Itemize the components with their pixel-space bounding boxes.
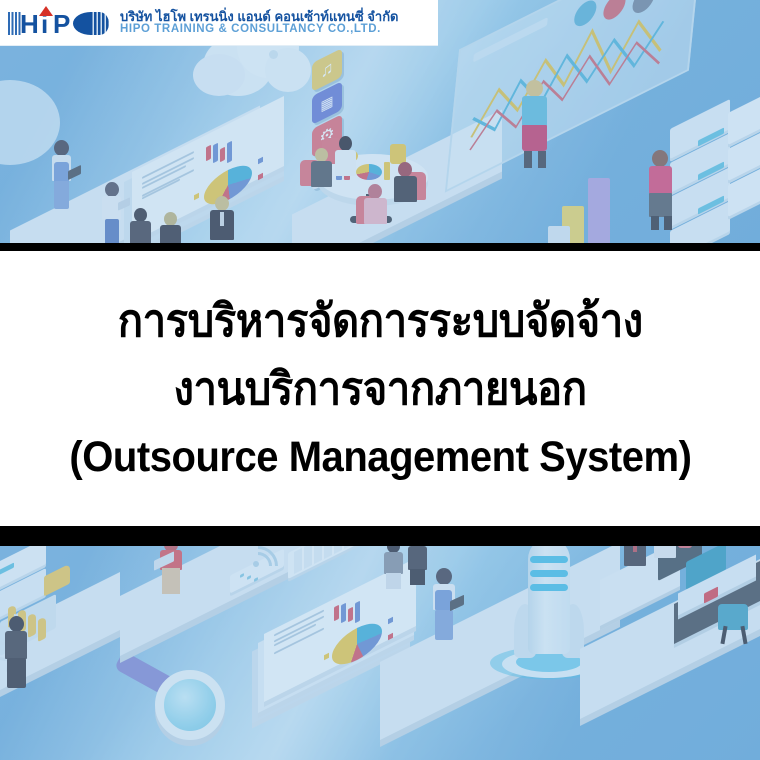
- meeting-table-group: [300, 120, 460, 230]
- person-seated-suit: [310, 148, 336, 188]
- person-at-server-rack: [646, 150, 676, 230]
- server-racks: [670, 100, 760, 243]
- title-thai-line-2: งานบริการจากภายนอก: [173, 365, 586, 414]
- title-thai-line-1: การบริหารจัดการระบบจัดจ้าง: [118, 297, 643, 346]
- logo-letter-p: P: [53, 11, 69, 37]
- title-block: การบริหารจัดการระบบจัดจ้าง งานบริการจากภ…: [0, 251, 760, 526]
- title-english-line: (Outsource Management System): [69, 434, 691, 480]
- person-seated-laptop: [158, 546, 188, 598]
- person-standing-tablet: [48, 140, 76, 212]
- person-photographing: [100, 182, 126, 243]
- divider-rule-top: [0, 243, 760, 251]
- person-presenter: [518, 80, 552, 170]
- poster-canvas: ♫ ▦ ⚙ ▤: [0, 0, 760, 760]
- person-seated-man-red: [392, 162, 420, 206]
- person-dark-suit-a: [128, 208, 154, 243]
- person-businessman-seated: [208, 196, 238, 243]
- person-seated-woman-dark: [334, 136, 360, 176]
- logo-letter-h: H: [20, 11, 38, 37]
- logo-oval-stripes: [90, 12, 109, 35]
- company-name-english: HIPO TRAINING & CONSULTANCY CO.,LTD.: [120, 23, 399, 35]
- magnifying-glass: [115, 646, 265, 736]
- divider-rule-bottom: [0, 526, 760, 546]
- person-dark-suit-b: [158, 212, 184, 243]
- person-seated-woman-pink: [362, 184, 390, 228]
- company-name-block: บริษัท ไฮโพ เทรนนิ่ง แอนด์ คอนเซ้าท์แทนซ…: [120, 10, 399, 36]
- company-logo-bar: H i P บริษัท ไฮโพ เทรนนิ่ง แอนด์ คอนเซ้า…: [0, 0, 438, 46]
- person-worker-suit: [622, 546, 650, 572]
- hipo-logo-icon: H i P: [8, 6, 112, 40]
- office-desk-monitors: [600, 546, 760, 656]
- person-standing-tablet-bottom: [430, 568, 460, 644]
- company-name-thai: บริษัท ไฮโพ เทรนนิ่ง แอนด์ คอนเซ้าท์แทนซ…: [120, 10, 399, 24]
- person-on-ladder: [4, 616, 32, 692]
- person-walking-a: [382, 546, 408, 592]
- bar-chart-columns: [548, 178, 638, 243]
- person-worker-blonde: [652, 546, 680, 564]
- person-walking-b: [406, 546, 432, 588]
- banner-bottom-illustration: [0, 546, 760, 760]
- logo-red-triangle-icon: [39, 6, 53, 16]
